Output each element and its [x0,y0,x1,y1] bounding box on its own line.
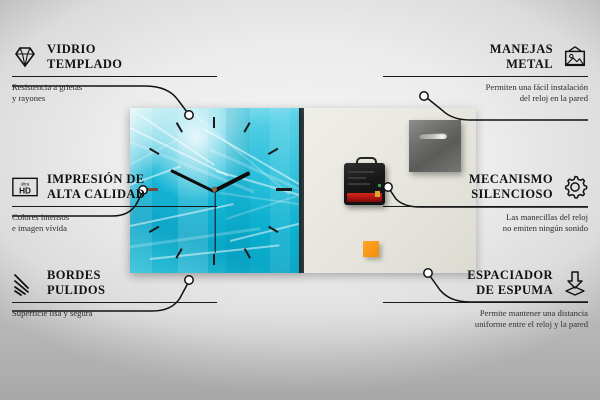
callout-espaciador-de-espuma: Espaciador de Espuma Permite mantener un… [383,268,588,331]
clock-mechanism [344,163,385,205]
callout-title: Impresión de Alta Calidad [47,172,145,202]
callout-title: Espaciador de Espuma [467,268,553,298]
diamond-icon [12,44,38,70]
clock-battery [347,193,382,202]
callout-manejas-metal: Manejas Metal Permiten una fácil instala… [383,42,588,105]
callout-description: Superficie lisa y segura [12,308,217,320]
callout-rule [12,76,217,77]
mechanism-indicator [378,184,381,187]
ultra-hd-icon: ultra HD [12,174,38,200]
down-arrow-pad-icon [562,270,588,296]
gear-icon [562,174,588,200]
callout-description: Permite mantener una distancia uniforme … [383,308,588,331]
foam-spacer [363,241,379,257]
callout-description: Las manecillas del reloj no emiten ningú… [383,212,588,235]
callout-title: Bordes Pulidos [47,268,105,298]
callout-rule [383,76,588,77]
callout-vidrio-templado: Vidrio Templado Resistencia a grietas y … [12,42,217,105]
callout-description: Permiten una fácil instalación del reloj… [383,82,588,105]
callout-title: Mecanismo Silencioso [469,172,553,202]
callout-bordes-pulidos: Bordes Pulidos Superficie lisa y segura [12,268,217,319]
metal-hanger-plate [409,120,461,172]
callout-rule [383,206,588,207]
polished-edges-icon [12,270,38,296]
callout-rule [12,206,217,207]
hanging-frame-icon [562,44,588,70]
ultra-hd-icon-small-label: ultra [21,181,30,186]
ultra-hd-icon-big-label: HD [19,186,31,195]
callout-title: Manejas Metal [490,42,553,72]
mechanism-hanger-loop [356,157,377,168]
callout-rule [383,302,588,303]
callout-description: Resistencia a grietas y rayones [12,82,217,105]
callout-title: Vidrio Templado [47,42,122,72]
hanger-slot [419,133,447,139]
callout-impresion-alta-calidad: ultra HD Impresión de Alta Calidad Color… [12,172,217,235]
callout-rule [12,302,217,303]
product-infographic: Vidrio Templado Resistencia a grietas y … [0,0,600,400]
callout-mecanismo-silencioso: Mecanismo Silencioso Las manecillas del … [383,172,588,235]
callout-description: Colores intensos e imagen vívida [12,212,217,235]
